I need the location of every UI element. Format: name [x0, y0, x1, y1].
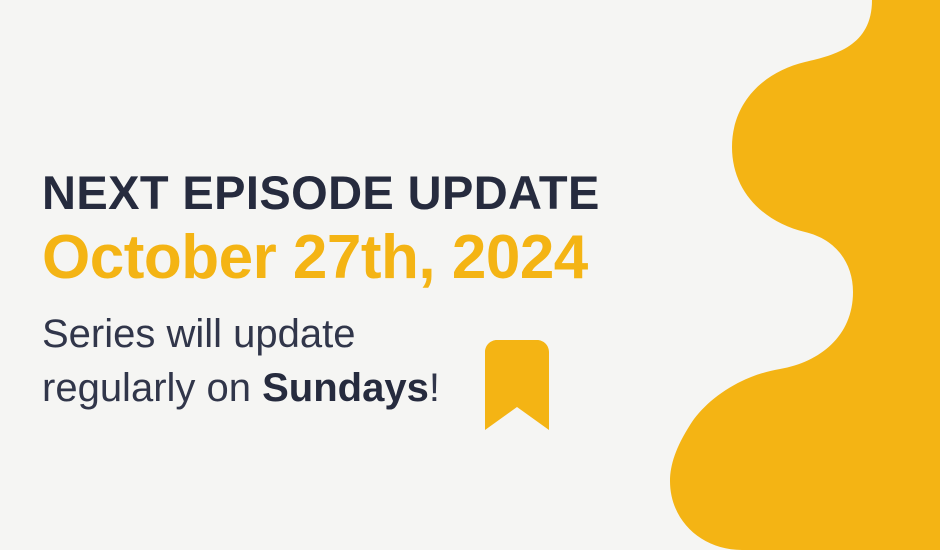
next-episode-update-banner: NEXT EPISODE UPDATE October 27th, 2024 S… — [0, 0, 940, 550]
schedule-note-day: Sundays — [262, 366, 429, 410]
schedule-note-suffix: ! — [429, 366, 440, 410]
text-block: NEXT EPISODE UPDATE October 27th, 2024 S… — [42, 168, 742, 415]
bookmark-icon — [485, 340, 549, 430]
episode-date: October 27th, 2024 — [42, 224, 742, 292]
page-title: NEXT EPISODE UPDATE — [42, 168, 742, 218]
schedule-note: Series will update regularly on Sundays! — [42, 308, 472, 415]
